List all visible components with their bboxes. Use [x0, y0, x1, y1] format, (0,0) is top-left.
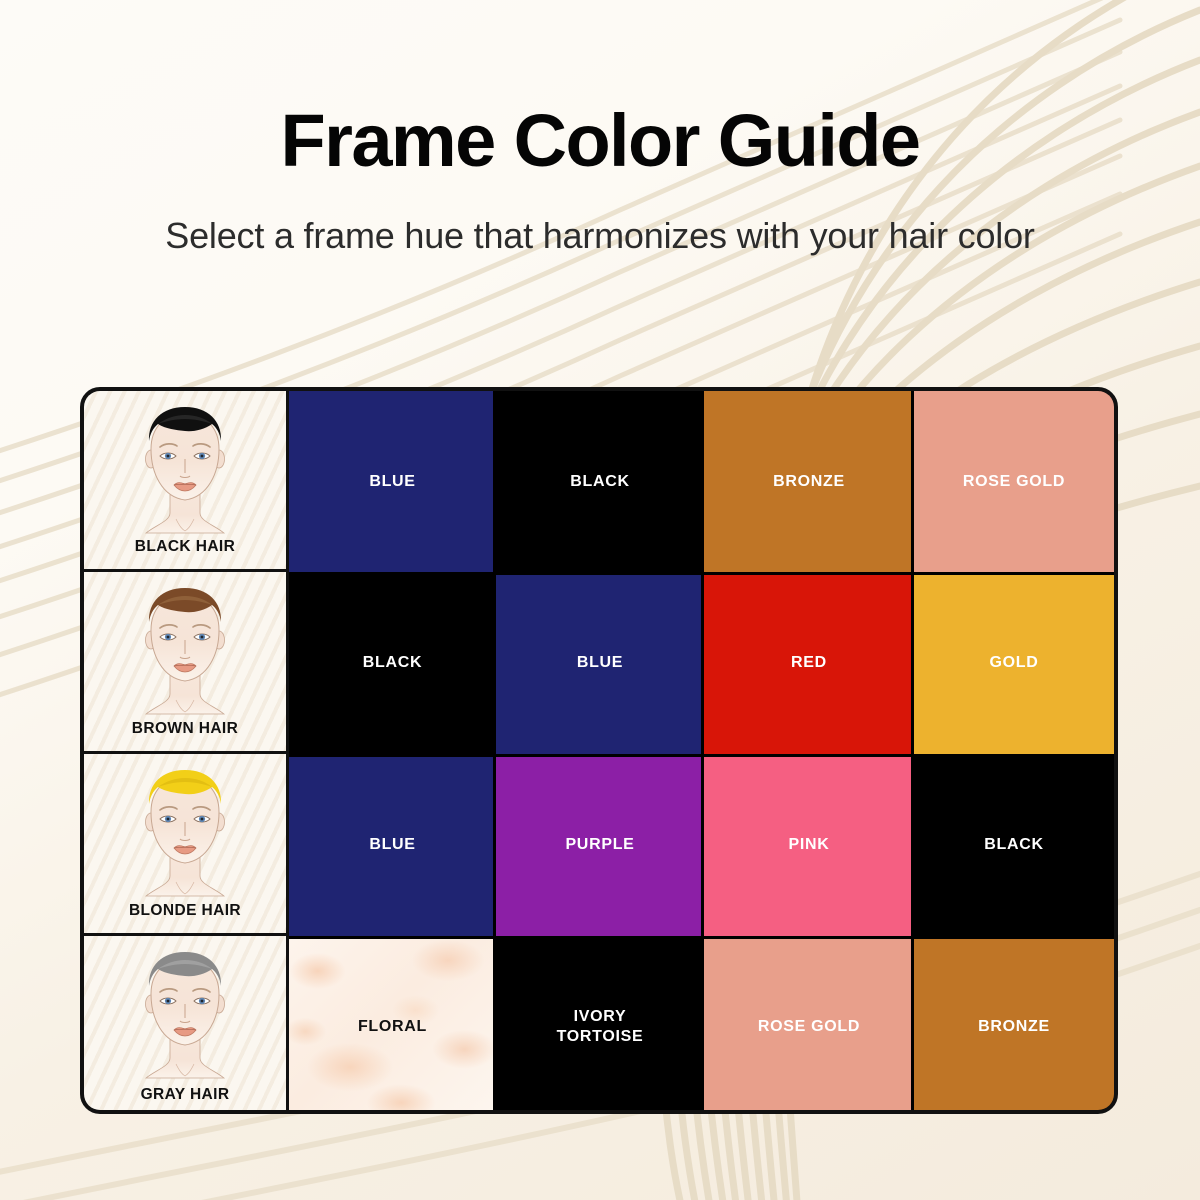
hair-type-cell[interactable]: BROWN HAIR: [84, 572, 289, 754]
frame-color-guide-page: Frame Color Guide Select a frame hue tha…: [0, 0, 1200, 1200]
swatch-label: BLACK: [570, 472, 630, 491]
frame-color-swatch[interactable]: BLUE: [289, 754, 496, 936]
swatch-label: PURPLE: [565, 835, 634, 854]
hair-type-label: BLONDE HAIR: [129, 902, 241, 933]
frame-color-swatch[interactable]: BLUE: [496, 572, 704, 754]
swatch-label: GOLD: [989, 653, 1038, 672]
frame-color-swatch[interactable]: FLORAL: [289, 936, 496, 1114]
frame-color-swatch[interactable]: BRONZE: [914, 936, 1114, 1114]
swatch-label: IVORY TORTOISE: [557, 1007, 644, 1045]
swatch-label: PINK: [788, 835, 829, 854]
frame-color-swatch[interactable]: GOLD: [914, 572, 1114, 754]
face-illustration: [126, 760, 244, 905]
frame-color-swatch[interactable]: BLACK: [289, 572, 496, 754]
face-illustration: [126, 942, 244, 1087]
swatch-label: ROSE GOLD: [758, 1017, 860, 1036]
hair-type-label: BROWN HAIR: [132, 720, 238, 751]
frame-color-swatch[interactable]: RED: [704, 572, 914, 754]
frame-color-grid: BLACK HAIRBLUEBLACKBRONZEROSE GOLD: [84, 391, 1114, 1110]
frame-color-swatch[interactable]: BLACK: [496, 391, 704, 572]
page-title: Frame Color Guide: [0, 104, 1200, 178]
face-illustration: [126, 397, 244, 542]
frame-color-guide-card: BLACK HAIRBLUEBLACKBRONZEROSE GOLD: [80, 387, 1118, 1114]
page-subtitle: Select a frame hue that harmonizes with …: [0, 212, 1200, 260]
swatch-label: FLORAL: [358, 1017, 427, 1036]
face-illustration: [126, 578, 244, 723]
frame-color-swatch[interactable]: ROSE GOLD: [914, 391, 1114, 572]
swatch-label: BLUE: [369, 472, 415, 491]
hair-type-cell[interactable]: BLACK HAIR: [84, 391, 289, 572]
swatch-label: BLUE: [369, 835, 415, 854]
frame-color-swatch[interactable]: BLUE: [289, 391, 496, 572]
frame-color-swatch[interactable]: PURPLE: [496, 754, 704, 936]
swatch-label: ROSE GOLD: [963, 472, 1065, 491]
swatch-label: BLUE: [577, 653, 623, 672]
frame-color-swatch[interactable]: IVORY TORTOISE: [496, 936, 704, 1114]
frame-color-swatch[interactable]: BLACK: [914, 754, 1114, 936]
swatch-label: BRONZE: [978, 1017, 1050, 1036]
header-block: Frame Color Guide Select a frame hue tha…: [0, 0, 1200, 260]
frame-color-swatch[interactable]: PINK: [704, 754, 914, 936]
hair-type-label: BLACK HAIR: [135, 538, 235, 569]
swatch-label: RED: [791, 653, 827, 672]
swatch-label: BRONZE: [773, 472, 845, 491]
frame-color-swatch[interactable]: BRONZE: [704, 391, 914, 572]
hair-type-cell[interactable]: GRAY HAIR: [84, 936, 289, 1114]
hair-type-label: GRAY HAIR: [141, 1086, 230, 1114]
hair-type-cell[interactable]: BLONDE HAIR: [84, 754, 289, 936]
frame-color-swatch[interactable]: ROSE GOLD: [704, 936, 914, 1114]
swatch-label: BLACK: [984, 835, 1044, 854]
swatch-label: BLACK: [363, 653, 423, 672]
